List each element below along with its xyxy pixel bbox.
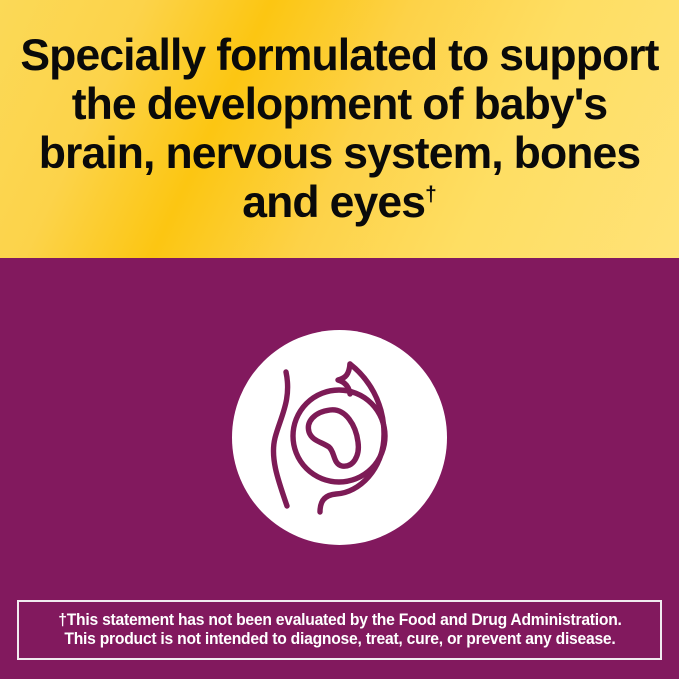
pregnancy-belly-icon: [232, 330, 447, 545]
disclaimer-line-1: †This statement has not been evaluated b…: [58, 611, 621, 629]
purple-body: †This statement has not been evaluated b…: [0, 258, 679, 679]
disclaimer-line-2: This product is not intended to diagnose…: [58, 630, 621, 649]
product-info-panel: Specially formulated to support the deve…: [0, 0, 679, 679]
disclaimer-text: †This statement has not been evaluated b…: [58, 611, 621, 649]
headline-band: Specially formulated to support the deve…: [0, 0, 679, 258]
disclaimer-box: †This statement has not been evaluated b…: [17, 600, 662, 660]
pregnancy-icon-badge: [232, 330, 447, 545]
headline-text: Specially formulated to support the deve…: [20, 31, 658, 228]
page-title: Specially formulated to support the deve…: [0, 31, 679, 228]
headline-footnote-marker: †: [425, 183, 437, 206]
